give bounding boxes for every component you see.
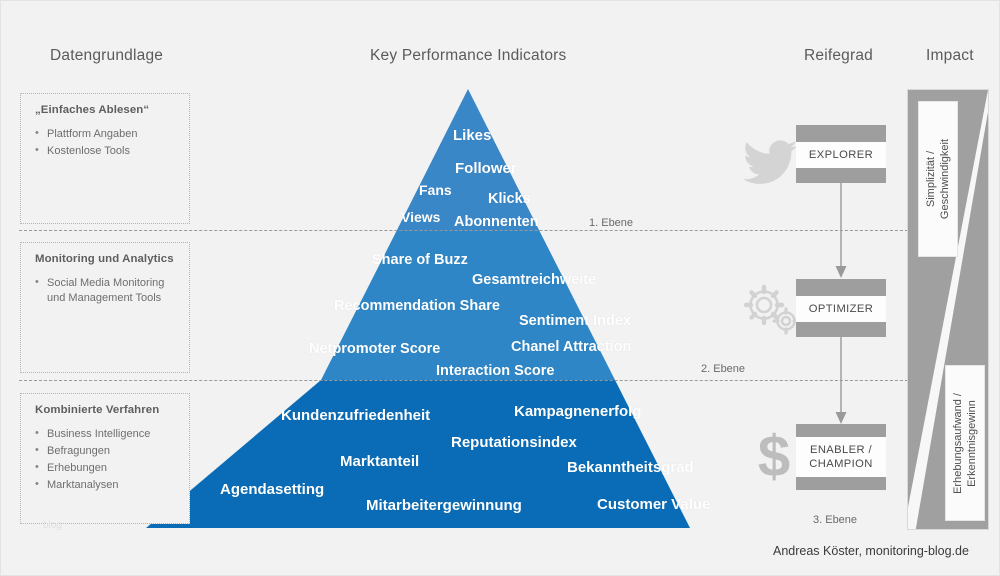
kpi-label: Bekanntheitsgrad (567, 459, 694, 476)
kpi-label: Klicks (488, 191, 531, 207)
info-box-monitoring-analytics: Monitoring und Analytics Social Media Mo… (20, 242, 190, 373)
info-box-einfaches-ablesen: „Einfaches Ablesen“ Plattform Angaben Ko… (20, 93, 190, 224)
svg-text:$: $ (758, 426, 790, 488)
kpi-label: Recommendation Share (334, 298, 500, 314)
column-header-reifegrad: Reifegrad (804, 47, 873, 65)
kpi-label: Share of Buzz (372, 252, 468, 268)
kpi-label: Views (401, 209, 440, 225)
column-header-kpi: Key Performance Indicators (370, 47, 566, 65)
kpi-label: Customer Value (597, 496, 710, 513)
level-label-3: 3. Ebene (813, 514, 857, 526)
impact-label-bottom-text: Erhebungsaufwand / Erkenntnisgewinn (951, 393, 979, 494)
kpi-label: Fans (419, 182, 452, 198)
list-item: Business Intelligence (35, 427, 177, 442)
kpi-label: Mitarbeitergewinnung (366, 497, 522, 514)
list-item: Marktanalysen (35, 478, 177, 493)
list-item: Social Media Monitoring und Management T… (35, 276, 177, 306)
level-label-2: 2. Ebene (701, 363, 745, 375)
gears-icon (738, 283, 800, 335)
maturity-box-enabler-champion[interactable]: ENABLER / CHAMPION (796, 424, 886, 490)
kpi-label: Kampagnenerfolg (514, 403, 642, 420)
info-box-list: Plattform Angaben Kostenlose Tools (35, 127, 177, 159)
kpi-label: Netpromoter Score (309, 341, 440, 357)
list-item: Kostenlose Tools (35, 144, 177, 159)
maturity-box-optimizer[interactable]: OPTIMIZER (796, 279, 886, 337)
dollar-icon: $ (751, 426, 797, 488)
watermark-text: blog (43, 520, 62, 531)
level-label-1: 1. Ebene (589, 217, 633, 229)
info-box-title: Kombinierte Verfahren (35, 404, 177, 416)
kpi-label: Kundenzufriedenheit (281, 407, 430, 424)
info-box-kombinierte-verfahren: Kombinierte Verfahren Business Intellige… (20, 393, 190, 524)
info-box-title: Monitoring und Analytics (35, 253, 177, 265)
impact-label-top: Simplizität / Geschwindigkeit (918, 101, 958, 257)
impact-label-top-text: Simplizität / Geschwindigkeit (924, 139, 952, 219)
kpi-label: Follower (455, 160, 517, 177)
kpi-label: Reputationsindex (451, 434, 577, 451)
info-box-title: „Einfaches Ablesen“ (35, 104, 177, 116)
list-item: Befragungen (35, 444, 177, 459)
impact-label-bottom: Erhebungsaufwand / Erkenntnisgewinn (945, 365, 985, 521)
kpi-label: Gesamtreichweite (472, 272, 596, 288)
kpi-label: Chanel Attraction (511, 339, 631, 355)
maturity-box-explorer[interactable]: EXPLORER (796, 125, 886, 183)
maturity-label: OPTIMIZER (796, 296, 886, 322)
list-item: Plattform Angaben (35, 127, 177, 142)
kpi-label: Marktanteil (340, 453, 419, 470)
column-header-impact: Impact (926, 47, 974, 65)
credit-text: Andreas Köster, monitoring-blog.de (773, 544, 969, 558)
twitter-bird-icon (741, 139, 799, 185)
info-box-list: Social Media Monitoring und Management T… (35, 276, 177, 306)
kpi-label: Likes (453, 127, 491, 144)
kpi-label: Sentiment Index (519, 313, 631, 329)
maturity-label: ENABLER / CHAMPION (796, 437, 886, 477)
arrow-optimizer-to-enabler-icon (827, 337, 857, 425)
kpi-label: Agendasetting (220, 481, 324, 498)
arrow-explorer-to-optimizer-icon (827, 183, 857, 279)
list-item: Erhebungen (35, 461, 177, 476)
column-header-datengrundlage: Datengrundlage (50, 47, 163, 65)
kpi-label: Abonnenten (454, 214, 539, 230)
maturity-label: EXPLORER (796, 142, 886, 168)
kpi-label: Interaction Score (436, 363, 554, 379)
infographic-canvas: Datengrundlage Key Performance Indicator… (0, 0, 1000, 576)
info-box-list: Business Intelligence Befragungen Erhebu… (35, 427, 177, 493)
